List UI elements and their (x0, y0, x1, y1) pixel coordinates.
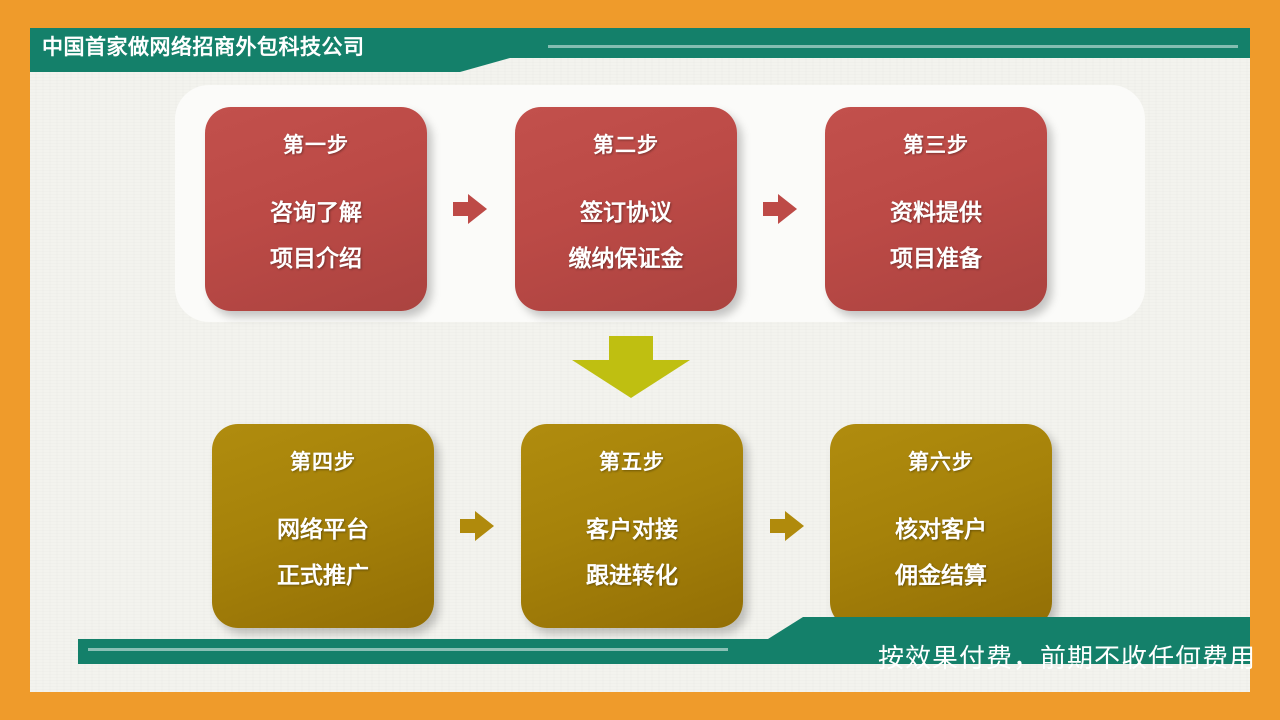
step-card-1[interactable]: 第一步 咨询了解 项目介绍 (205, 107, 427, 311)
step-card-1-body: 咨询了解 项目介绍 (270, 189, 362, 281)
arrow-right-icon-4 (770, 511, 804, 541)
arrow-right-icon-1 (453, 194, 487, 224)
step-card-3-line1: 资料提供 (890, 189, 982, 235)
step-card-6-line1: 核对客户 (895, 506, 987, 552)
step-card-5-line2: 跟进转化 (586, 552, 678, 598)
step-card-1-title: 第一步 (283, 129, 349, 159)
slide-canvas: 中国首家做网络招商外包科技公司 第一步 咨询了解 项目介绍 第二步 签订协议 缴… (0, 0, 1280, 720)
arrow-head (475, 511, 494, 541)
step-card-5-body: 客户对接 跟进转化 (586, 506, 678, 598)
step-card-6[interactable]: 第六步 核对客户 佣金结算 (830, 424, 1052, 628)
step-card-6-body: 核对客户 佣金结算 (895, 506, 987, 598)
step-card-5[interactable]: 第五步 客户对接 跟进转化 (521, 424, 743, 628)
arrow-head (572, 360, 690, 398)
step-card-5-title: 第五步 (599, 446, 665, 476)
step-card-4-line1: 网络平台 (277, 506, 369, 552)
arrow-head (778, 194, 797, 224)
step-card-2-line2: 缴纳保证金 (569, 235, 684, 281)
step-card-4[interactable]: 第四步 网络平台 正式推广 (212, 424, 434, 628)
arrow-head (785, 511, 804, 541)
arrow-shaft (609, 336, 653, 362)
step-card-2-line1: 签订协议 (569, 189, 684, 235)
step-card-4-body: 网络平台 正式推广 (277, 506, 369, 598)
step-card-3-line2: 项目准备 (890, 235, 982, 281)
step-card-1-line1: 咨询了解 (270, 189, 362, 235)
step-card-2[interactable]: 第二步 签订协议 缴纳保证金 (515, 107, 737, 311)
arrow-right-icon-3 (460, 511, 494, 541)
step-card-3[interactable]: 第三步 资料提供 项目准备 (825, 107, 1047, 311)
step-card-2-title: 第二步 (593, 129, 659, 159)
arrow-head (468, 194, 487, 224)
step-card-4-line2: 正式推广 (277, 552, 369, 598)
process-flow: 第一步 咨询了解 项目介绍 第二步 签订协议 缴纳保证金 第三步 资料提供 项目… (0, 0, 1220, 664)
arrow-down-icon (572, 336, 690, 398)
step-card-6-line2: 佣金结算 (895, 552, 987, 598)
step-card-2-body: 签订协议 缴纳保证金 (569, 189, 684, 281)
step-card-3-body: 资料提供 项目准备 (890, 189, 982, 281)
step-card-3-title: 第三步 (903, 129, 969, 159)
step-card-5-line1: 客户对接 (586, 506, 678, 552)
step-card-4-title: 第四步 (290, 446, 356, 476)
step-card-6-title: 第六步 (908, 446, 974, 476)
step-card-1-line2: 项目介绍 (270, 235, 362, 281)
arrow-right-icon-2 (763, 194, 797, 224)
